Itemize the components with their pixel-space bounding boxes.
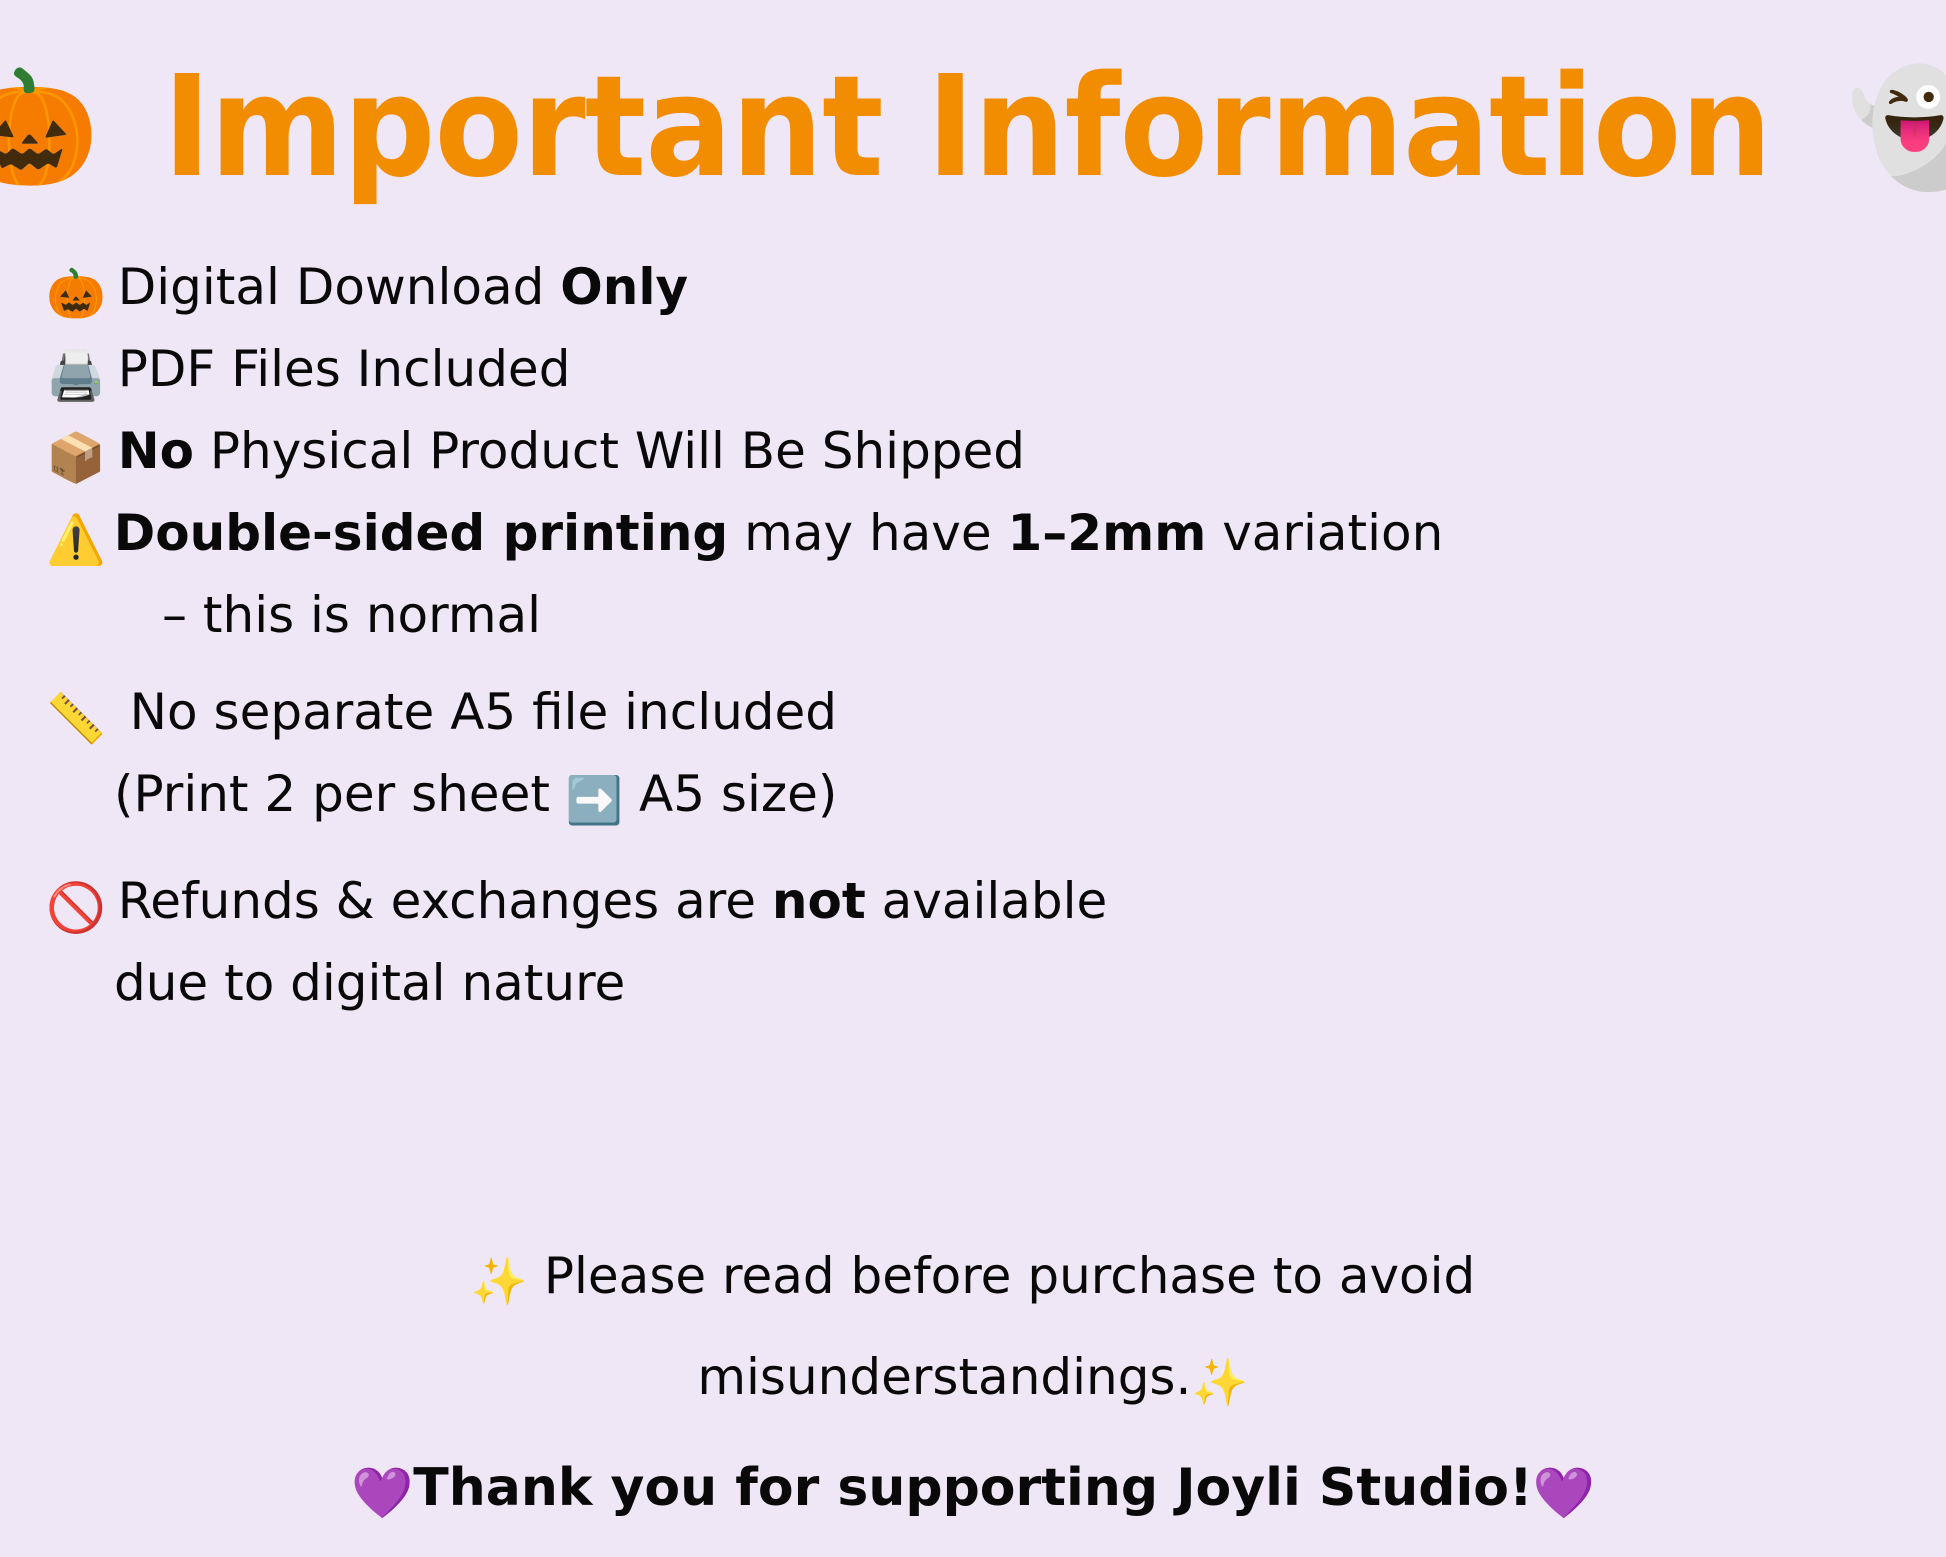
spacer xyxy=(46,838,1906,864)
list-item-text: may have xyxy=(728,504,1007,562)
continuation-text-lead: (Print 2 per sheet xyxy=(114,765,566,823)
list-item-text: No separate A5 file included xyxy=(114,683,837,741)
list-item: 📏 No separate A5 file included xyxy=(46,675,1906,757)
list-item: 🚫Refunds & exchanges are not available xyxy=(46,864,1906,946)
list-item-emphasis: No xyxy=(118,422,194,480)
list-item-text: Digital Download xyxy=(118,258,560,316)
ghost-icon: 👻 xyxy=(1847,72,1946,184)
thank-you-text: Thank you for supporting Joyli Studio! xyxy=(413,1458,1532,1518)
list-item-emphasis: Only xyxy=(560,258,688,316)
footer-line-1: ✨ Please read before purchase to avoid xyxy=(0,1228,1946,1329)
prohibited-icon: 🚫 xyxy=(46,871,106,946)
continuation-text-tail: A5 size) xyxy=(623,765,837,823)
package-icon: 📦 xyxy=(46,421,106,496)
list-item-emphasis: not xyxy=(772,872,866,930)
printer-icon: 🖨️ xyxy=(46,339,106,414)
right-arrow-icon: ➡️ xyxy=(566,763,623,838)
sparkles-icon: ✨ xyxy=(1191,1355,1248,1409)
list-item-emphasis-2: 1–2mm xyxy=(1008,504,1207,562)
list-item-continuation: – this is normal xyxy=(46,578,1906,653)
footer-note: ✨ Please read before purchase to avoid m… xyxy=(0,1228,1946,1541)
list-item-text: Physical Product Will Be Shipped xyxy=(194,422,1025,480)
list-item: 🎃Digital Download Only xyxy=(46,250,1906,332)
thank-you-line: 💜Thank you for supporting Joyli Studio!💜 xyxy=(0,1440,1946,1541)
listing-info-page: 🎃 Important Information 👻 🎃Digital Downl… xyxy=(0,0,1946,1557)
purple-heart-icon: 💜 xyxy=(1533,1464,1595,1522)
page-title: 🎃 Important Information 👻 xyxy=(0,48,1946,208)
warning-icon: ⚠️ xyxy=(46,503,106,578)
purple-heart-icon: 💜 xyxy=(351,1464,413,1522)
footer-line-2: misunderstandings.✨ xyxy=(0,1329,1946,1430)
list-item-text: PDF Files Included xyxy=(118,340,571,398)
list-item-emphasis: Double-sided printing xyxy=(114,504,728,562)
list-item: 🖨️PDF Files Included xyxy=(46,332,1906,414)
ruler-icon: 📏 xyxy=(46,682,106,757)
list-item-text-tail: variation xyxy=(1206,504,1443,562)
list-item: 📦No Physical Product Will Be Shipped xyxy=(46,414,1906,496)
list-item-continuation: (Print 2 per sheet ➡️ A5 size) xyxy=(46,757,1906,838)
list-item-text: Refunds & exchanges are xyxy=(118,872,772,930)
list-item: ⚠️Double-sided printing may have 1–2mm v… xyxy=(46,496,1906,578)
list-item-continuation: due to digital nature xyxy=(46,946,1906,1021)
jack-o-lantern-icon: 🎃 xyxy=(46,257,106,332)
spacer xyxy=(46,653,1906,675)
sparkles-icon: ✨ xyxy=(471,1254,528,1308)
info-bullet-list: 🎃Digital Download Only 🖨️PDF Files Inclu… xyxy=(46,250,1906,1021)
footer-text-2: misunderstandings. xyxy=(697,1348,1191,1406)
footer-text-1: Please read before purchase to avoid xyxy=(528,1247,1475,1305)
page-title-text: Important Information xyxy=(163,58,1771,198)
jack-o-lantern-icon: 🎃 xyxy=(0,72,99,184)
list-item-text-tail: available xyxy=(866,872,1108,930)
